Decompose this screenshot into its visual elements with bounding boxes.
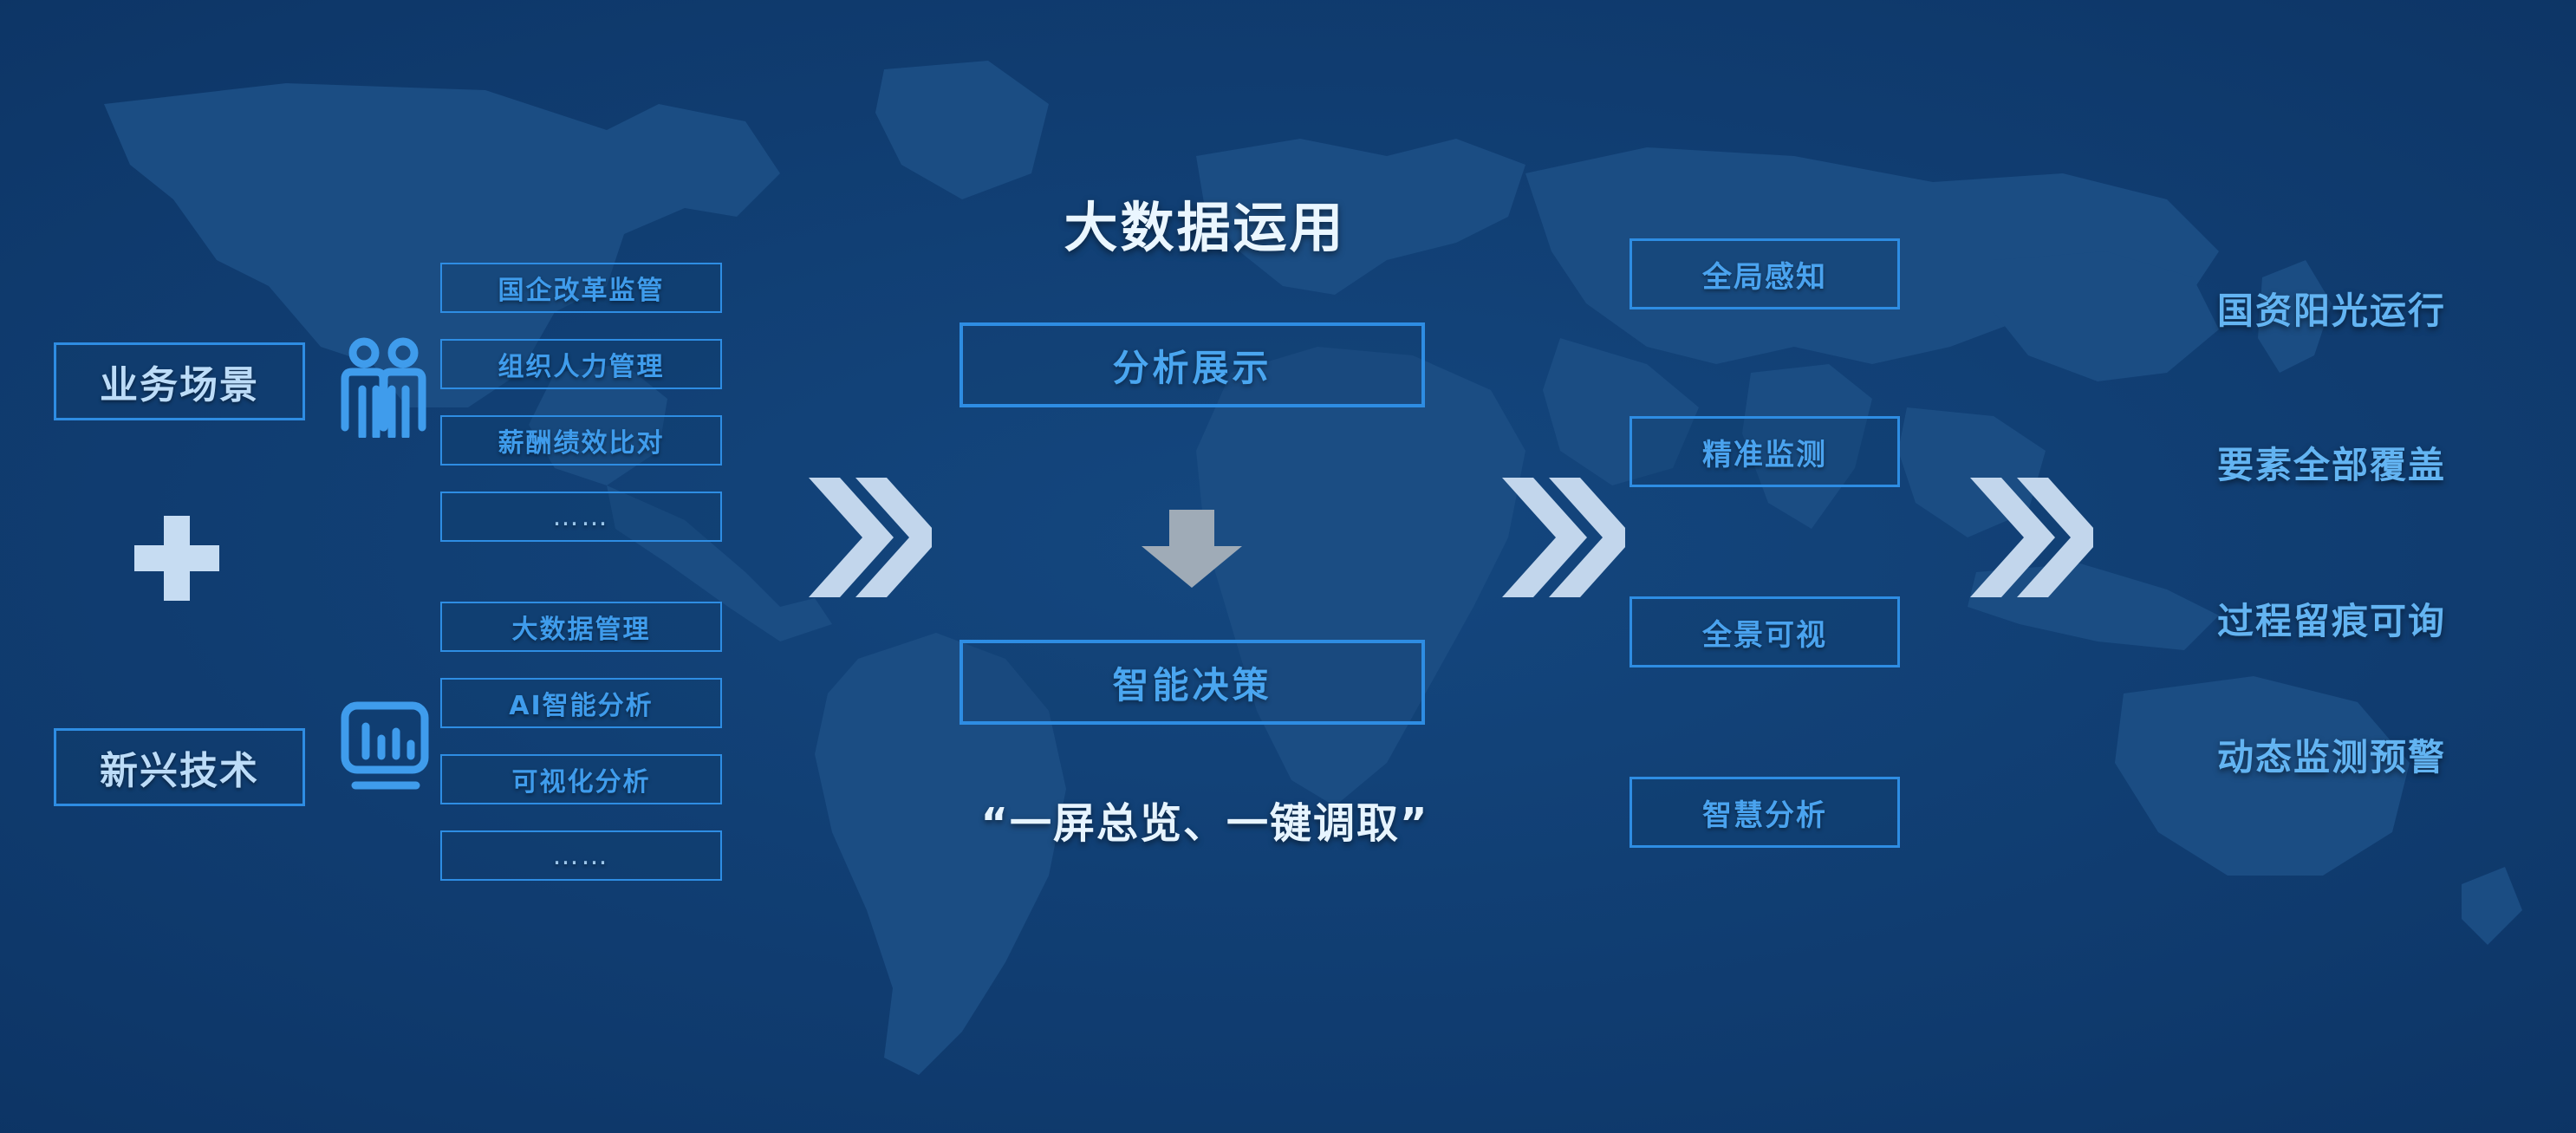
plus-operator-icon bbox=[134, 516, 219, 601]
scenario-item-box[interactable]: 国企改革监管 bbox=[440, 263, 722, 313]
capability-label: 全局感知 bbox=[1702, 253, 1827, 296]
capability-label: 智慧分析 bbox=[1702, 791, 1827, 834]
technology-item-box[interactable]: 大数据管理 bbox=[440, 602, 722, 652]
capability-box[interactable]: 全景可视 bbox=[1630, 596, 1900, 667]
capability-box[interactable]: 智慧分析 bbox=[1630, 777, 1900, 848]
center-box-label: 智能决策 bbox=[1112, 656, 1272, 709]
capability-box[interactable]: 精准监测 bbox=[1630, 416, 1900, 487]
center-box-intelligent-decision[interactable]: 智能决策 bbox=[959, 640, 1425, 725]
chevron-stage-2 bbox=[1495, 472, 1625, 602]
technology-item-box[interactable]: AI智能分析 bbox=[440, 678, 722, 728]
technology-item-label: 大数据管理 bbox=[512, 608, 651, 646]
input-box-emerging-technology[interactable]: 新兴技术 bbox=[54, 728, 305, 806]
outcome-text: 过程留痕可询 bbox=[2150, 592, 2514, 645]
center-box-label: 分析展示 bbox=[1112, 339, 1272, 392]
outcome-text: 动态监测预警 bbox=[2150, 728, 2514, 781]
scenario-item-label: 国企改革监管 bbox=[498, 269, 665, 307]
outcome-text: 要素全部覆盖 bbox=[2150, 436, 2514, 489]
down-arrow-icon bbox=[1140, 510, 1244, 588]
scenario-item-label: 薪酬绩效比对 bbox=[498, 421, 665, 459]
center-box-analysis-display[interactable]: 分析展示 bbox=[959, 322, 1425, 407]
capability-label: 全景可视 bbox=[1702, 611, 1827, 654]
chart-monitor-icon bbox=[338, 693, 433, 798]
input-label: 新兴技术 bbox=[100, 739, 259, 795]
people-icon bbox=[338, 334, 429, 438]
technology-item-label: …… bbox=[553, 841, 610, 871]
page-title: 大数据运用 bbox=[1023, 184, 1387, 262]
scenario-item-box-more[interactable]: …… bbox=[440, 492, 722, 542]
technology-item-box[interactable]: 可视化分析 bbox=[440, 754, 722, 804]
technology-item-box-more[interactable]: …… bbox=[440, 830, 722, 881]
input-label: 业务场景 bbox=[100, 354, 259, 409]
outcome-text: 国资阳光运行 bbox=[2150, 282, 2514, 335]
slide-canvas: 业务场景 新兴技术 bbox=[0, 0, 2576, 1133]
scenario-item-label: 组织人力管理 bbox=[498, 345, 665, 383]
chevron-stage-3 bbox=[1963, 472, 2093, 602]
capability-label: 精准监测 bbox=[1702, 431, 1827, 473]
chevron-stage-1 bbox=[802, 472, 932, 602]
world-map-background bbox=[0, 0, 2576, 1133]
scenario-item-box[interactable]: 薪酬绩效比对 bbox=[440, 415, 722, 466]
technology-item-label: AI智能分析 bbox=[509, 684, 653, 722]
center-quote: “一屏总览、一键调取” bbox=[884, 789, 1525, 850]
scenario-item-box[interactable]: 组织人力管理 bbox=[440, 339, 722, 389]
technology-item-label: 可视化分析 bbox=[512, 760, 651, 798]
capability-box[interactable]: 全局感知 bbox=[1630, 238, 1900, 309]
input-box-business-scenario[interactable]: 业务场景 bbox=[54, 342, 305, 420]
scenario-item-label: …… bbox=[553, 502, 610, 532]
